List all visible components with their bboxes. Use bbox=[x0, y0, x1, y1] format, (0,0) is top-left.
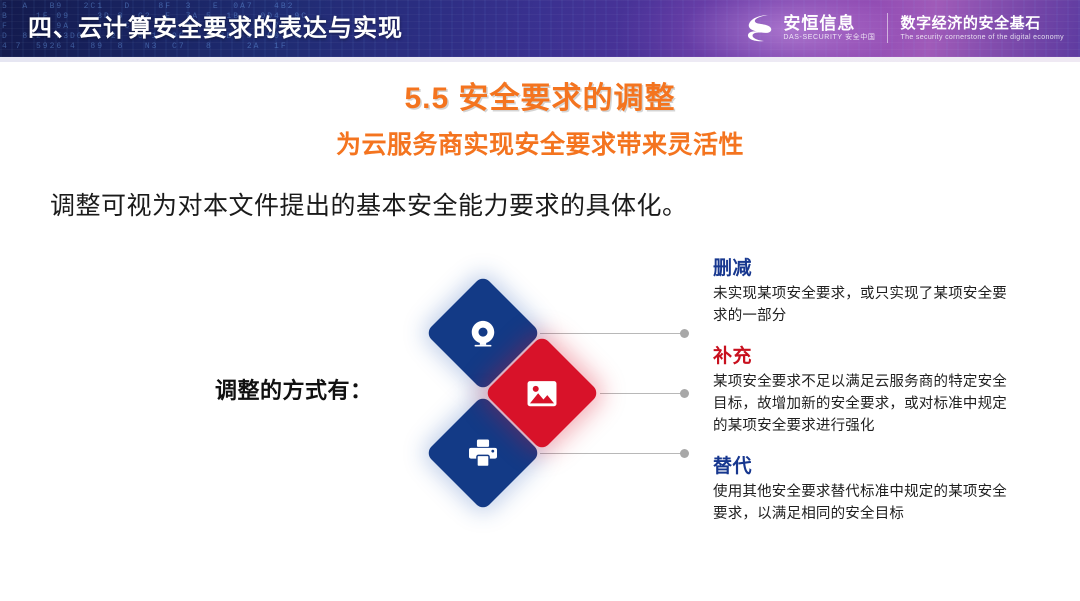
connector-endpoint-3 bbox=[680, 449, 689, 458]
list-item: 替代 使用其他安全要求替代标准中规定的某项安全要求，以满足相同的安全目标 bbox=[713, 451, 1013, 525]
list-item: 补充 某项安全要求不足以满足云服务商的特定安全目标，故增加新的安全要求，或对标准… bbox=[713, 341, 1013, 437]
webcam-icon bbox=[468, 318, 498, 348]
header-underline bbox=[0, 57, 1080, 62]
diagram-left-label: 调整的方式有： bbox=[215, 373, 373, 405]
adjustment-types-list: 删减 未实现某项安全要求，或只实现了某项安全要求的一部分 补充 某项安全要求不足… bbox=[713, 253, 1013, 539]
page-title: 5.5 安全要求的调整 bbox=[0, 73, 1080, 117]
brand-name-en: DAS-SECURITY 安全中国 bbox=[783, 33, 875, 42]
page-subtitle: 为云服务商实现安全要求带来灵活性 bbox=[0, 125, 1080, 161]
printer-icon bbox=[468, 439, 498, 467]
connector-line-1 bbox=[540, 333, 682, 334]
brand-name-cn: 安恒信息 bbox=[783, 14, 875, 33]
connector-endpoint-2 bbox=[680, 389, 689, 398]
connector-endpoint-1 bbox=[680, 329, 689, 338]
slide-header: 5 A B9 2C1 D 8F 3 E 0A7 4B2 B 1F 09 3D 8… bbox=[0, 0, 1080, 57]
brand-slogan-block: 数字经济的安全基石 The security cornerstone of th… bbox=[900, 15, 1064, 42]
das-security-logo-icon bbox=[744, 12, 774, 44]
block-body: 使用其他安全要求替代标准中规定的某项安全要求，以满足相同的安全目标 bbox=[713, 481, 1013, 525]
brand-lockup: 安恒信息 DAS-SECURITY 安全中国 数字经济的安全基石 The sec… bbox=[744, 6, 1064, 50]
list-item: 删减 未实现某项安全要求，或只实现了某项安全要求的一部分 bbox=[713, 253, 1013, 327]
block-body: 未实现某项安全要求，或只实现了某项安全要求的一部分 bbox=[713, 283, 1013, 327]
connector-line-3 bbox=[540, 453, 682, 454]
body-paragraph: 调整可视为对本文件提出的基本安全能力要求的具体化。 bbox=[50, 186, 688, 222]
block-body: 某项安全要求不足以满足云服务商的特定安全目标，故增加新的安全要求，或对标准中规定… bbox=[713, 371, 1013, 437]
brand-slogan-cn: 数字经济的安全基石 bbox=[900, 15, 1064, 33]
block-title: 删减 bbox=[713, 253, 1013, 280]
connector-line-2 bbox=[600, 393, 682, 394]
block-title: 补充 bbox=[713, 341, 1013, 368]
section-title: 四、云计算安全要求的表达与实现 bbox=[28, 8, 403, 43]
image-icon bbox=[527, 380, 558, 407]
block-title: 替代 bbox=[713, 451, 1013, 478]
brand-name-block: 安恒信息 DAS-SECURITY 安全中国 bbox=[783, 14, 875, 42]
brand-divider bbox=[887, 13, 888, 43]
brand-slogan-en: The security cornerstone of the digital … bbox=[900, 33, 1064, 42]
